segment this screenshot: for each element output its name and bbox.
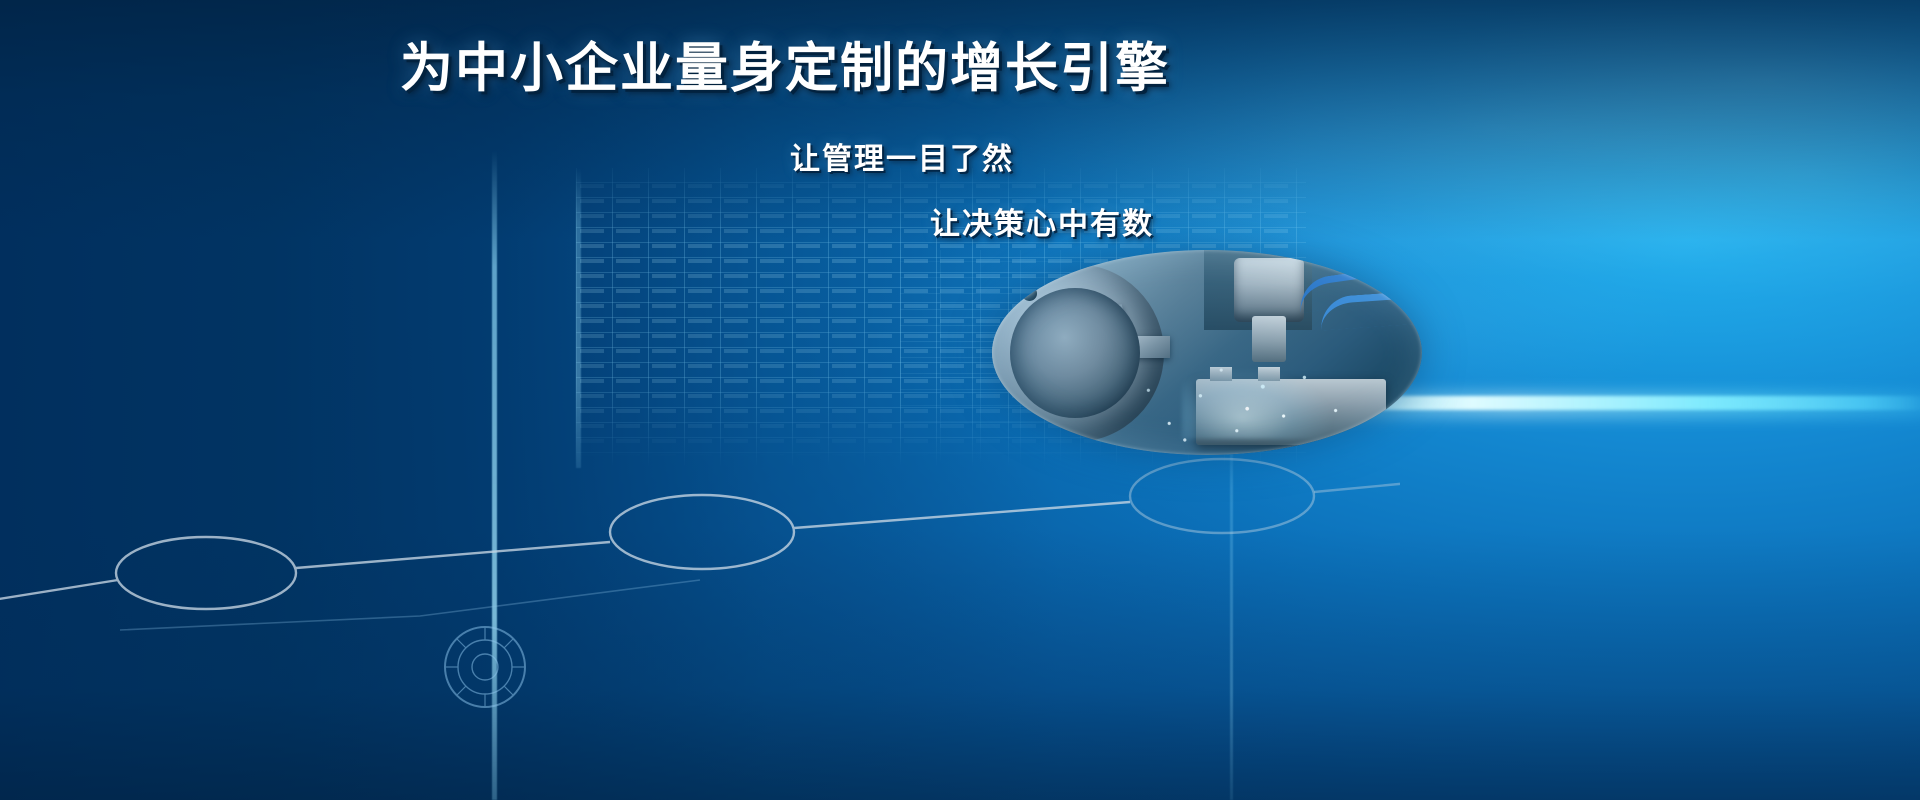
bar	[921, 569, 955, 800]
bar	[1838, 623, 1872, 800]
bar	[267, 689, 301, 800]
bar	[1445, 665, 1479, 800]
bar	[1707, 644, 1741, 800]
bar	[1619, 605, 1653, 800]
bar	[790, 599, 824, 800]
bar	[965, 662, 999, 800]
bar	[1314, 650, 1348, 800]
bar	[1227, 692, 1261, 800]
bar	[1008, 611, 1042, 800]
photo-ellipse-rim	[992, 250, 1422, 455]
bar	[528, 587, 562, 800]
bar	[48, 644, 82, 800]
bar	[1358, 554, 1392, 800]
bar	[703, 623, 737, 800]
bar	[1750, 671, 1784, 800]
bar	[616, 656, 650, 800]
page-title: 为中小企业量身定制的增长引擎	[0, 26, 1570, 102]
bar	[1096, 578, 1130, 800]
bar	[1270, 590, 1304, 800]
bar	[1183, 632, 1217, 800]
hero-banner: 为中小企业量身定制的增长引擎 让管理一目了然 让决策心中有数	[0, 0, 1920, 800]
bar	[310, 548, 344, 800]
bar	[398, 662, 432, 800]
bar	[1576, 656, 1610, 800]
cnc-machining-photo	[992, 250, 1422, 455]
bar	[441, 713, 475, 800]
bar	[485, 635, 519, 800]
bar	[1139, 656, 1173, 800]
bar	[1794, 587, 1828, 800]
bar	[92, 668, 126, 800]
bar	[572, 683, 606, 800]
bar	[5, 707, 39, 800]
bar	[136, 575, 170, 800]
bar	[834, 695, 868, 800]
subtitle-line-1: 让管理一目了然	[790, 134, 1014, 178]
bar	[1401, 608, 1435, 800]
bar	[179, 656, 213, 800]
bar	[659, 704, 693, 800]
bar	[354, 602, 388, 800]
bar	[1532, 572, 1566, 800]
bar	[1052, 521, 1086, 800]
bar-chart-silhouette	[0, 470, 1920, 800]
bar	[1663, 536, 1697, 800]
bar	[747, 671, 781, 800]
bar	[878, 644, 912, 800]
subtitle-line-2: 让决策心中有数	[930, 199, 1154, 243]
bar	[1881, 656, 1915, 800]
bar	[223, 620, 257, 800]
bar	[1488, 623, 1522, 800]
